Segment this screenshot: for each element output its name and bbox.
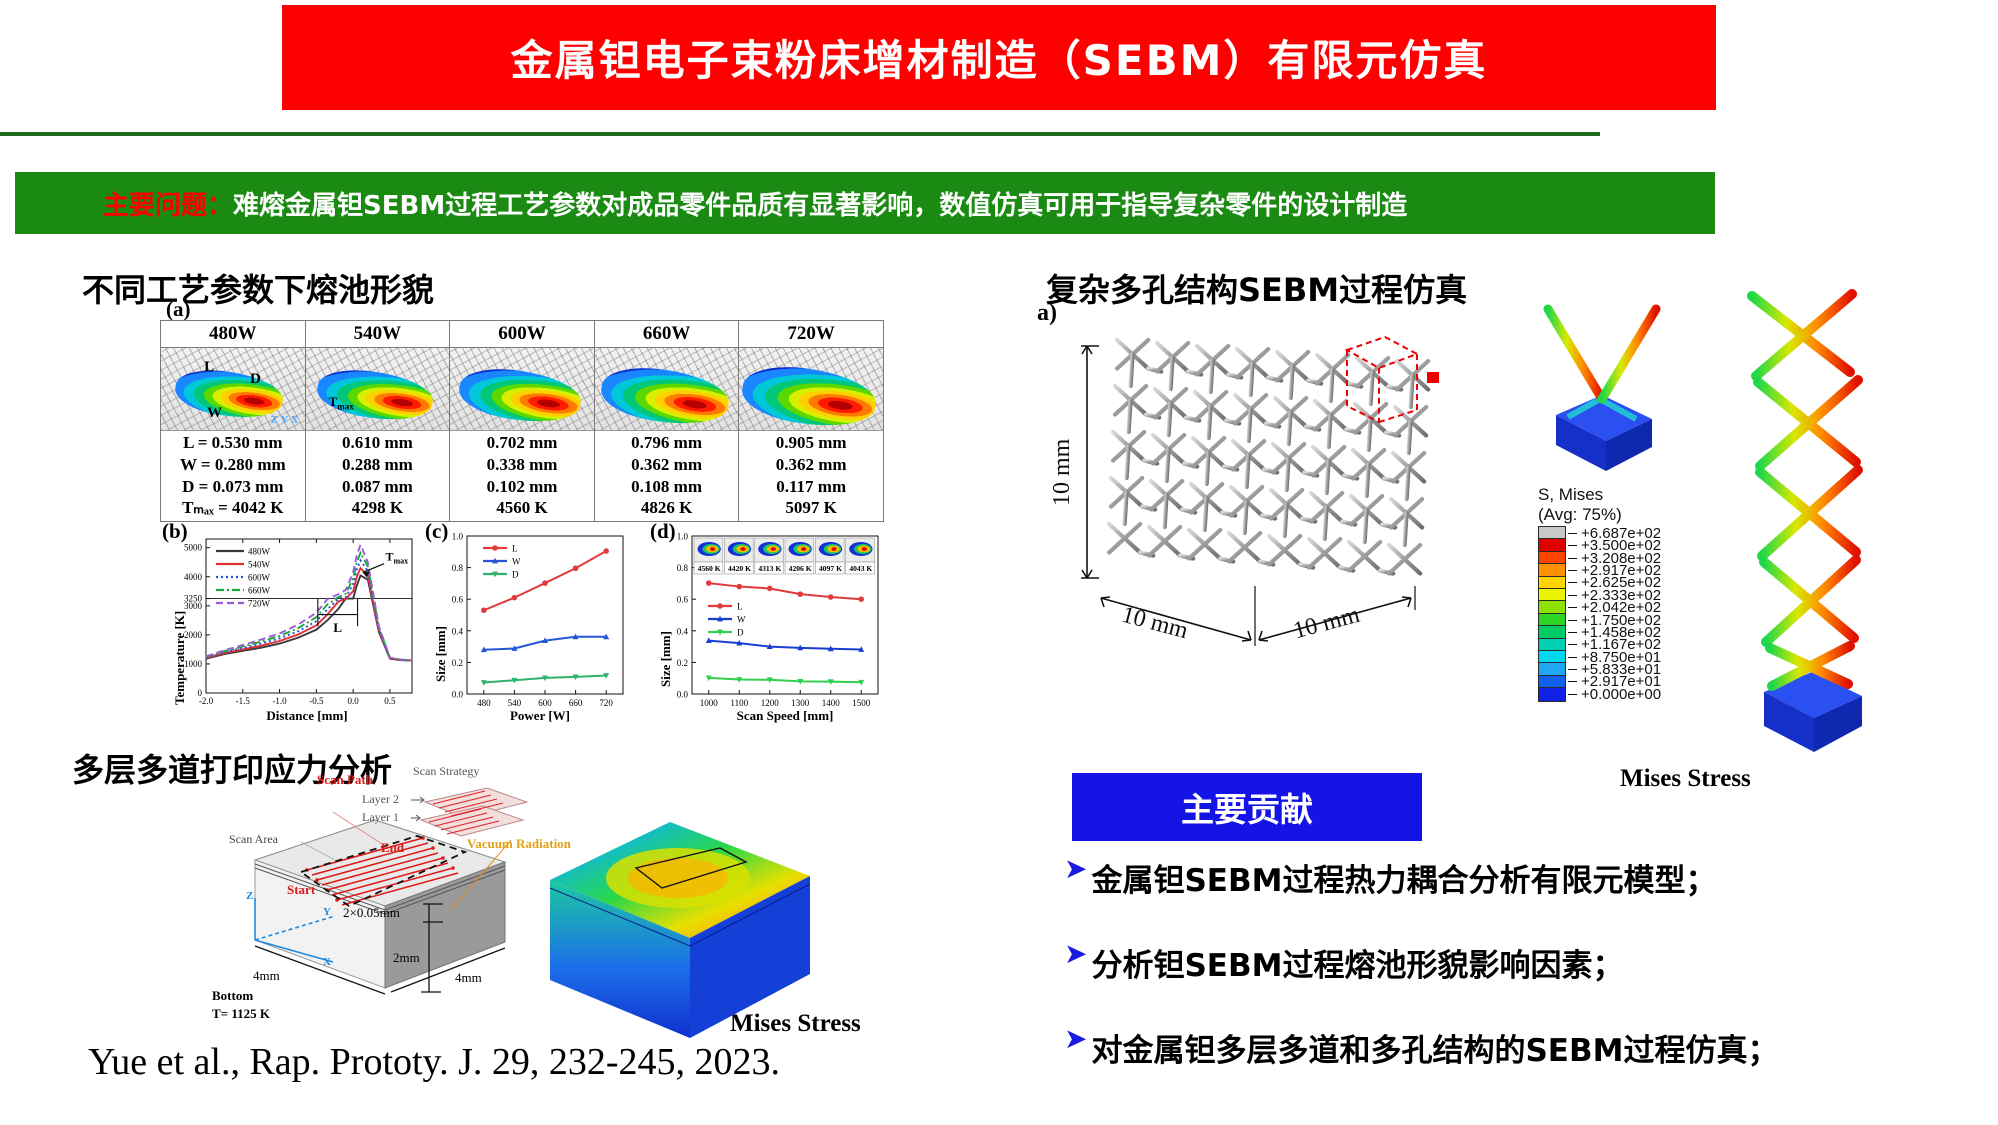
svg-text:0.0: 0.0 (452, 690, 464, 700)
svg-text:4097 K: 4097 K (819, 564, 842, 573)
meltpool-image (595, 348, 739, 431)
label-layer-thickness: 2×0.05mm (343, 905, 400, 921)
panel-b-label: (b) (162, 519, 188, 544)
svg-text:0.4: 0.4 (677, 626, 689, 636)
label-height: 2mm (393, 950, 420, 966)
svg-text:0.8: 0.8 (677, 563, 689, 573)
axis-label-y: Y (323, 906, 331, 918)
svg-text:D: D (737, 628, 744, 638)
svg-text:3250: 3250 (184, 594, 203, 604)
slide-title-banner: 金属钽电子束粉床增材制造（SEBM）有限元仿真 (282, 5, 1716, 110)
legend-tick (1568, 558, 1577, 559)
contribution-header-text: 主要贡献 (1181, 783, 1313, 831)
section-heading-meltpool: 不同工艺参数下熔池形貌 (82, 265, 434, 311)
svg-text:1300: 1300 (791, 698, 810, 708)
label-start: Start (287, 882, 315, 898)
lattice-svg (1055, 310, 1475, 660)
legend-tick (1568, 533, 1577, 534)
meltpool-D: 0.087 mm (342, 477, 413, 498)
meltpool-L: L = 0.530 mm (183, 433, 282, 454)
contribution-bullet-text: 金属钽SEBM过程热力耦合分析有限元模型； (1091, 855, 1716, 900)
svg-text:L: L (333, 620, 342, 635)
svg-text:600W: 600W (248, 573, 271, 583)
svg-text:720W: 720W (248, 599, 271, 609)
panel-d-ylabel: Size [mm] (658, 631, 674, 687)
meltpool-Tmax: Tₘₐₓ = 4042 K (182, 498, 283, 519)
citation-text: Yue et al., Rap. Prototy. J. 29, 232-245… (88, 1040, 780, 1084)
legend-title-line2: (Avg: 75%) (1538, 505, 1661, 525)
meltpool-power-header: 540W (306, 321, 450, 348)
meltpool-column: 540W Tmax 0.610 mm 0.288 mm 0.087 mm 429… (306, 321, 451, 521)
mises-result-tall (1730, 286, 1890, 786)
svg-text:0.0: 0.0 (677, 690, 689, 700)
bullet-arrow-icon: ➤ (1064, 940, 1087, 968)
porous-lattice-figure: a) 10 mm 10 mm 10 mm (1055, 310, 1475, 660)
annotation-W: W (207, 405, 222, 422)
roi-marker-icon (1427, 372, 1439, 383)
meltpool-D: D = 0.073 mm (182, 477, 283, 498)
svg-text:660W: 660W (248, 586, 271, 596)
svg-text:4313 K: 4313 K (758, 564, 781, 573)
meltpool-L: 0.796 mm (631, 433, 702, 454)
meltpool-values: 0.796 mm 0.362 mm 0.108 mm 4826 K (595, 431, 739, 521)
legend-swatch-list: +6.687e+02+3.500e+02+3.208e+02+2.917e+02… (1538, 527, 1661, 700)
svg-text:0.8: 0.8 (452, 563, 464, 573)
meltpool-image (739, 348, 883, 431)
svg-text:0: 0 (198, 688, 203, 698)
meltpool-D: 0.117 mm (776, 477, 846, 498)
lattice-panel-label: a) (1037, 300, 1057, 327)
legend-tick (1568, 657, 1577, 658)
meltpool-comparison-table: 480W L D W Z Y X L = 0.530 mm W = 0.280 … (160, 320, 884, 522)
meltpool-W: 0.338 mm (487, 455, 558, 476)
mises-caption-right: Mises Stress (1620, 765, 1751, 793)
meltpool-W: 0.288 mm (342, 455, 413, 476)
svg-text:1000: 1000 (700, 698, 719, 708)
legend-tick (1568, 607, 1577, 608)
problem-text: 难熔金属钽SEBM过程工艺参数对成品零件品质有显著影响，数值仿真可用于指导复杂零… (233, 185, 1407, 222)
meltpool-values: 0.905 mm 0.362 mm 0.117 mm 5097 K (739, 431, 883, 521)
meltpool-W: W = 0.280 mm (180, 455, 286, 476)
svg-text:D: D (512, 570, 519, 580)
svg-text:-0.5: -0.5 (309, 696, 324, 706)
svg-text:4206 K: 4206 K (789, 564, 812, 573)
meltpool-D: 0.108 mm (631, 477, 702, 498)
svg-text:0.6: 0.6 (677, 595, 689, 605)
label-layer1: Layer 1 (362, 810, 399, 825)
label-bottom: Bottom (212, 988, 253, 1004)
svg-text:480W: 480W (248, 547, 271, 557)
svg-text:W: W (737, 615, 746, 625)
meltpool-image: L D W Z Y X (161, 348, 305, 431)
svg-text:1.0: 1.0 (452, 532, 464, 542)
svg-text:L: L (512, 544, 518, 554)
title-divider-rule (0, 132, 1600, 136)
svg-text:4420 K: 4420 K (728, 564, 751, 573)
svg-text:1200: 1200 (761, 698, 780, 708)
legend-tick (1568, 570, 1577, 571)
annotation-Tmax: Tmax (329, 394, 354, 412)
svg-text:0.6: 0.6 (452, 595, 464, 605)
bullet-arrow-icon: ➤ (1064, 855, 1087, 883)
meltpool-values: 0.610 mm 0.288 mm 0.087 mm 4298 K (306, 431, 450, 521)
svg-text:720: 720 (599, 698, 613, 708)
label-scan-path: Scan Path (317, 772, 373, 788)
svg-text:-1.5: -1.5 (236, 696, 251, 706)
mises-result-small (1528, 295, 1678, 475)
annotation-D: D (250, 371, 261, 388)
legend-tick (1568, 694, 1577, 695)
meltpool-power-header: 480W (161, 321, 305, 348)
meltpool-column: 600W 0.702 mm 0.338 mm 0.102 mm 4560 K (450, 321, 595, 521)
svg-text:5000: 5000 (184, 543, 203, 553)
panel-c-ylabel: Size [mm] (433, 626, 449, 682)
chart-panel-d: (d) Size [mm] 1000110012001300140015000.… (650, 522, 885, 730)
contribution-bullet: ➤ 金属钽SEBM过程热力耦合分析有限元模型； (1064, 855, 1716, 900)
panel-b-xlabel: Distance [mm] (212, 708, 402, 724)
meltpool-L: 0.610 mm (342, 433, 413, 454)
contribution-header-badge: 主要贡献 (1072, 773, 1422, 841)
svg-text:4560 K: 4560 K (698, 564, 721, 573)
meltpool-power-header: 720W (739, 321, 883, 348)
panel-c-plot: 4805406006607200.00.20.40.60.81.0LWD (425, 522, 630, 730)
meltpool-power-header: 600W (450, 321, 594, 348)
meltpool-L: 0.905 mm (776, 433, 847, 454)
axis-label-z: Z (246, 890, 253, 902)
meltpool-Tmax: 4826 K (641, 498, 692, 519)
meltpool-Tmax: 4298 K (352, 498, 403, 519)
svg-text:1100: 1100 (730, 698, 748, 708)
legend-tick (1568, 620, 1577, 621)
svg-text:660: 660 (569, 698, 583, 708)
chart-panel-b: (b) Temperature [K] -2.0-1.5-1.0-0.50.00… (160, 525, 420, 730)
svg-text:L: L (737, 602, 743, 612)
legend-tick (1568, 644, 1577, 645)
svg-text:W: W (512, 557, 521, 567)
legend-tick (1568, 669, 1577, 670)
svg-text:0.4: 0.4 (452, 626, 464, 636)
svg-text:1.0: 1.0 (677, 532, 689, 542)
mises-stress-legend: S, Mises (Avg: 75%) +6.687e+02+3.500e+02… (1538, 485, 1661, 701)
svg-text:-1.0: -1.0 (272, 696, 287, 706)
svg-text:600: 600 (538, 698, 552, 708)
stress-result-render (540, 810, 830, 1050)
meltpool-Tmax: 4560 K (496, 498, 547, 519)
label-scan-area: Scan Area (229, 832, 278, 847)
panel-d-plot: 1000110012001300140015000.00.20.40.60.81… (650, 522, 885, 730)
problem-label: 主要问题： (103, 185, 233, 222)
meltpool-D: 0.102 mm (487, 477, 558, 498)
meltpool-Tmax: 5097 K (785, 498, 836, 519)
legend-tick (1568, 681, 1577, 682)
panel-d-xlabel: Scan Speed [mm] (695, 708, 875, 724)
panel-b-plot: -2.0-1.5-1.0-0.50.00.5010002000300032504… (160, 525, 420, 730)
svg-text:540: 540 (508, 698, 522, 708)
legend-tick (1568, 595, 1577, 596)
contribution-bullet: ➤ 对金属钽多层多道和多孔结构的SEBM过程仿真； (1064, 1025, 1778, 1070)
lattice-dim-height: 10 mm (1049, 439, 1076, 506)
contribution-bullet-text: 分析钽SEBM过程熔池形貌影响因素； (1091, 940, 1623, 985)
panel-c-label: (c) (425, 519, 448, 544)
label-width-x: 4mm (253, 968, 280, 984)
meltpool-column: 480W L D W Z Y X L = 0.530 mm W = 0.280 … (161, 321, 306, 521)
contribution-bullet-text: 对金属钽多层多道和多孔结构的SEBM过程仿真； (1091, 1025, 1778, 1070)
label-width-y: 4mm (455, 970, 482, 986)
chart-panel-c: (c) Size [mm] 4805406006607200.00.20.40.… (425, 522, 630, 730)
legend-title-line1: S, Mises (1538, 485, 1661, 505)
meltpool-values: 0.702 mm 0.338 mm 0.102 mm 4560 K (450, 431, 594, 521)
svg-text:0.0: 0.0 (348, 696, 360, 706)
label-layer2: Layer 2 (362, 792, 399, 807)
label-scan-strategy: Scan Strategy (413, 764, 479, 779)
meltpool-W: 0.362 mm (631, 455, 702, 476)
meltpool-column: 720W 0.905 mm 0.362 mm 0.117 mm 5097 K (739, 321, 883, 521)
panel-a-label: (a) (166, 297, 191, 322)
svg-text:0.5: 0.5 (384, 696, 396, 706)
section-heading-porous: 复杂多孔结构SEBM过程仿真 (1046, 265, 1467, 311)
svg-text:540W: 540W (248, 560, 271, 570)
bullet-arrow-icon: ➤ (1064, 1025, 1087, 1053)
meltpool-L: 0.702 mm (487, 433, 558, 454)
meltpool-column: 660W 0.796 mm 0.362 mm 0.108 mm 4826 K (595, 321, 740, 521)
label-bottom-temp: T= 1125 K (212, 1006, 270, 1022)
panel-b-ylabel: Temperature [K] (172, 611, 188, 705)
legend-tick (1568, 582, 1577, 583)
legend-tick (1568, 632, 1577, 633)
svg-text:0.2: 0.2 (452, 658, 463, 668)
meltpool-image: Tmax (306, 348, 450, 431)
page-title: 金属钽电子束粉床增材制造（SEBM）有限元仿真 (511, 27, 1488, 88)
contribution-bullet: ➤ 分析钽SEBM过程熔池形貌影响因素； (1064, 940, 1623, 985)
meltpool-image (450, 348, 594, 431)
legend-value: +0.000e+00 (1581, 686, 1661, 703)
problem-statement-bar: 主要问题： 难熔金属钽SEBM过程工艺参数对成品零件品质有显著影响，数值仿真可用… (15, 172, 1715, 234)
svg-text:1500: 1500 (852, 698, 871, 708)
legend-tick (1568, 545, 1577, 546)
svg-text:0.2: 0.2 (677, 658, 688, 668)
axis-label-x: X (323, 956, 331, 968)
meltpool-W: 0.362 mm (776, 455, 847, 476)
legend-color-swatch (1538, 687, 1566, 701)
panel-c-xlabel: Power [W] (465, 708, 615, 724)
meltpool-values: L = 0.530 mm W = 0.280 mm D = 0.073 mm T… (161, 431, 305, 521)
svg-text:480: 480 (477, 698, 491, 708)
svg-text:1400: 1400 (822, 698, 841, 708)
svg-text:4043 K: 4043 K (849, 564, 872, 573)
meltpool-power-header: 660W (595, 321, 739, 348)
annotation-L: L (204, 359, 214, 376)
axis-triad-icon: Z Y X (271, 414, 299, 426)
svg-text:4000: 4000 (184, 572, 203, 582)
label-end: End (381, 840, 404, 856)
legend-swatch-row: +0.000e+00 (1538, 688, 1661, 700)
panel-d-label: (d) (650, 519, 676, 544)
